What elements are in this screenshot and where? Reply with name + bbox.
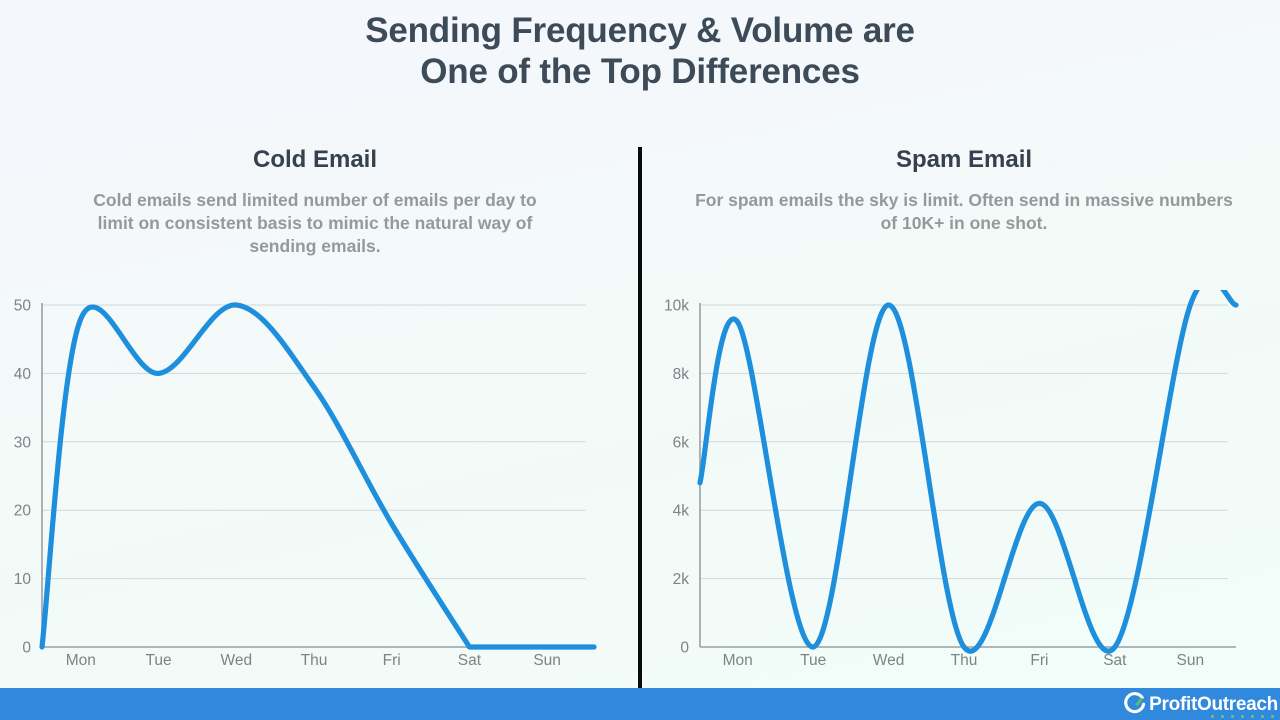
brand-logo-text: ProfitOutreach — [1149, 695, 1278, 714]
chart-data-line — [700, 290, 1236, 651]
page-title: Sending Frequency & Volume are One of th… — [0, 10, 1280, 92]
y-tick-label: 4k — [673, 503, 690, 520]
y-tick-label: 0 — [22, 640, 31, 657]
y-tick-label: 10k — [664, 298, 689, 315]
x-tick-label: Thu — [951, 652, 978, 669]
page-title-line-1: Sending Frequency & Volume are — [0, 10, 1280, 51]
y-tick-label: 20 — [14, 503, 32, 520]
y-tick-label: 8k — [673, 366, 690, 383]
logo-dots — [1211, 715, 1274, 718]
brand-logo[interactable]: ProfitOutreach — [1122, 688, 1280, 720]
x-tick-label: Sun — [1176, 652, 1204, 669]
chart-cold-email-svg: 01020304050MonTueWedThuFriSatSun — [0, 290, 630, 680]
y-tick-label: 50 — [14, 298, 32, 315]
x-tick-label: Wed — [220, 652, 252, 669]
chart-cold-email: 01020304050MonTueWedThuFriSatSun — [0, 290, 630, 680]
x-tick-label: Fri — [383, 652, 401, 669]
x-tick-label: Fri — [1030, 652, 1048, 669]
y-tick-label: 10 — [14, 571, 32, 588]
y-tick-label: 6k — [673, 434, 690, 451]
panel-cold-email-description: Cold emails send limited number of email… — [0, 189, 630, 258]
y-tick-label: 2k — [673, 571, 690, 588]
x-tick-label: Tue — [800, 652, 826, 669]
x-tick-label: Sat — [458, 652, 482, 669]
profit-outreach-leaf-circle-icon — [1122, 691, 1148, 717]
panel-spam-email: Spam Email For spam emails the sky is li… — [648, 145, 1280, 235]
x-tick-label: Mon — [66, 652, 96, 669]
panel-spam-email-description: For spam emails the sky is limit. Often … — [648, 189, 1280, 235]
x-tick-label: Wed — [873, 652, 905, 669]
x-tick-label: Sat — [1103, 652, 1127, 669]
chart-spam-email: 02k4k6k8k10kMonTueWedThuFriSatSun — [648, 290, 1280, 680]
panel-cold-email: Cold Email Cold emails send limited numb… — [0, 145, 630, 258]
x-tick-label: Tue — [146, 652, 172, 669]
footer-bar: ProfitOutreach — [0, 688, 1280, 720]
chart-spam-email-svg: 02k4k6k8k10kMonTueWedThuFriSatSun — [648, 290, 1280, 680]
x-tick-label: Sun — [533, 652, 561, 669]
y-tick-label: 0 — [680, 640, 689, 657]
x-tick-label: Thu — [301, 652, 328, 669]
page-title-line-2: One of the Top Differences — [0, 51, 1280, 92]
y-tick-label: 40 — [14, 366, 32, 383]
x-tick-label: Mon — [723, 652, 753, 669]
panel-cold-email-heading: Cold Email — [0, 145, 630, 175]
panel-divider — [638, 147, 642, 688]
chart-data-line — [42, 305, 594, 647]
panel-spam-email-heading: Spam Email — [648, 145, 1280, 175]
y-tick-label: 30 — [14, 434, 32, 451]
